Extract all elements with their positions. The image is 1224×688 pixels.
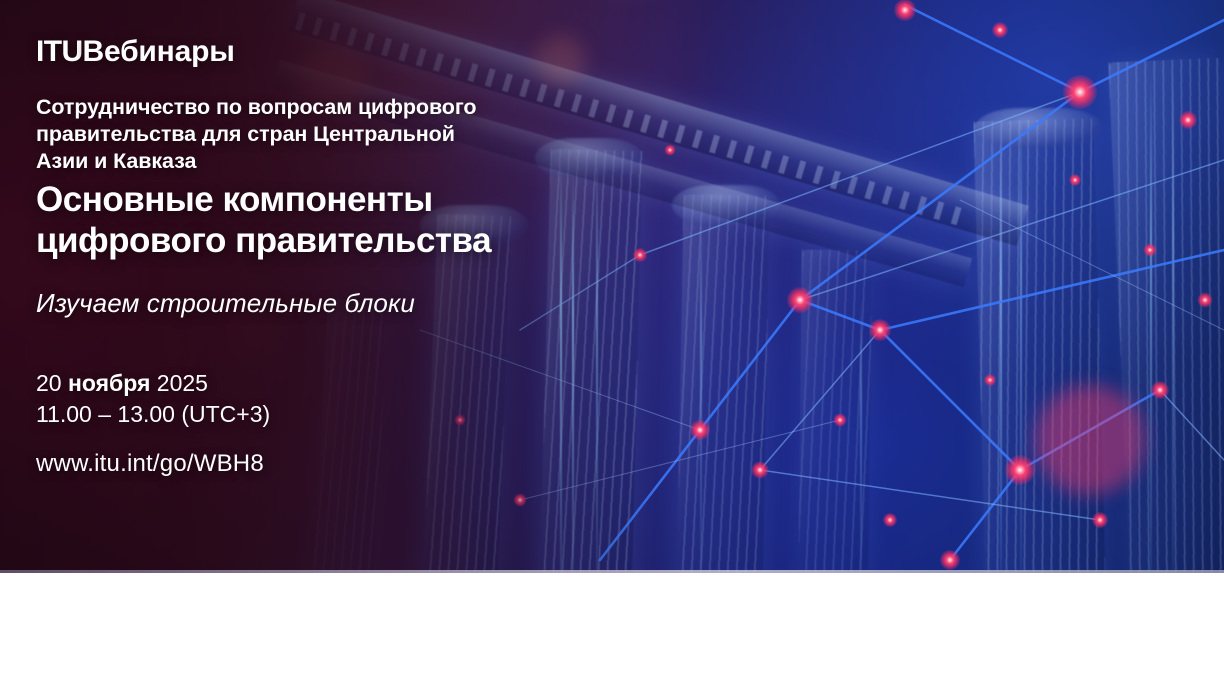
date-day: 20 <box>36 370 68 396</box>
date-month: ноября <box>68 370 150 396</box>
event-time: 11.00 – 13.00 (UTC+3) <box>36 399 270 430</box>
webinar-promo-banner: ITUВебинары Сотрудничество по вопросам ц… <box>0 0 1224 688</box>
tagline: Изучаем строительные блоки <box>36 288 415 319</box>
event-date: 20 ноября 2025 <box>36 368 270 399</box>
event-url[interactable]: www.itu.int/go/WBH8 <box>36 450 264 478</box>
brand-webinars: Вебинары <box>83 35 235 68</box>
brand-itu: ITU <box>36 35 83 68</box>
series-kicker: Сотрудничество по вопросам цифрового пра… <box>36 94 506 175</box>
brand-lockup: ITUВебинары <box>36 35 235 69</box>
event-datetime: 20 ноября 2025 11.00 – 13.00 (UTC+3) <box>36 368 270 429</box>
page-title: Основные компоненты цифрового правительс… <box>36 180 596 262</box>
hero-copy-block: ITUВебинары Сотрудничество по вопросам ц… <box>36 0 636 573</box>
footer-logo-bar: Соорганизаторы: Организатор: nitec <box>0 573 1224 688</box>
date-year: 2025 <box>150 370 208 396</box>
